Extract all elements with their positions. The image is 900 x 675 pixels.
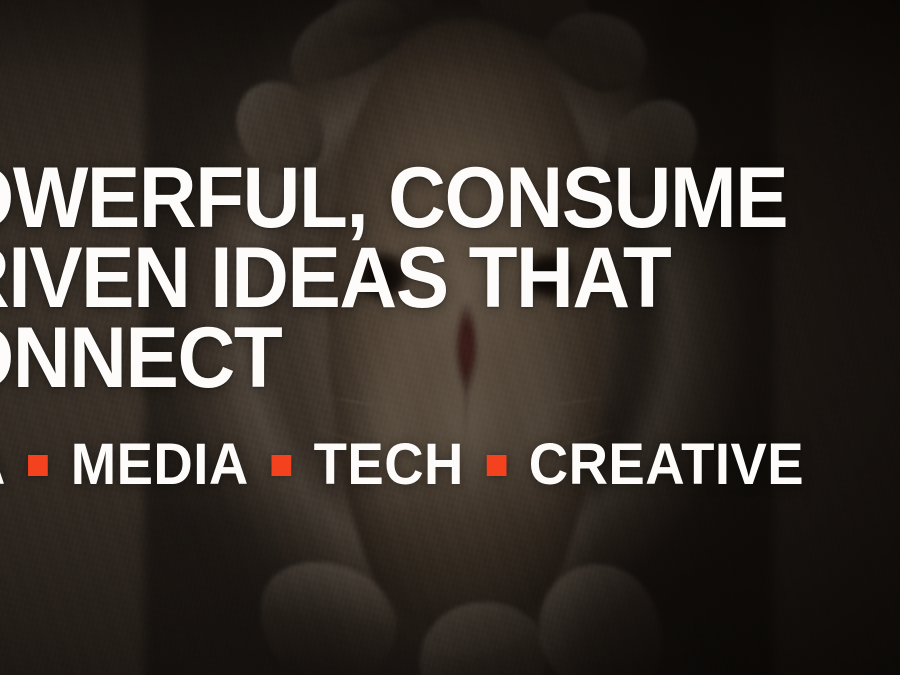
headline-line-3: ONNECT bbox=[0, 318, 900, 398]
headline-line-2: RIVEN IDEAS THAT bbox=[0, 238, 900, 318]
headline-line-1: OWERFUL, CONSUME bbox=[0, 158, 900, 238]
orange-square-separator-icon bbox=[28, 455, 48, 476]
banner-content: OWERFUL, CONSUME RIVEN IDEAS THAT ONNECT… bbox=[0, 0, 900, 675]
orange-square-separator-icon bbox=[271, 455, 291, 476]
headline: OWERFUL, CONSUME RIVEN IDEAS THAT ONNECT bbox=[0, 158, 900, 398]
tagline-item-3: CREATIVE bbox=[529, 436, 804, 494]
tagline-item-1: MEDIA bbox=[71, 436, 249, 494]
hero-banner: OWERFUL, CONSUME RIVEN IDEAS THAT ONNECT… bbox=[0, 0, 900, 675]
tagline-item-0: A bbox=[0, 436, 6, 494]
tagline: A MEDIA TECH CREATIVE bbox=[0, 436, 804, 494]
tagline-item-2: TECH bbox=[314, 436, 464, 494]
orange-square-separator-icon bbox=[486, 455, 506, 476]
